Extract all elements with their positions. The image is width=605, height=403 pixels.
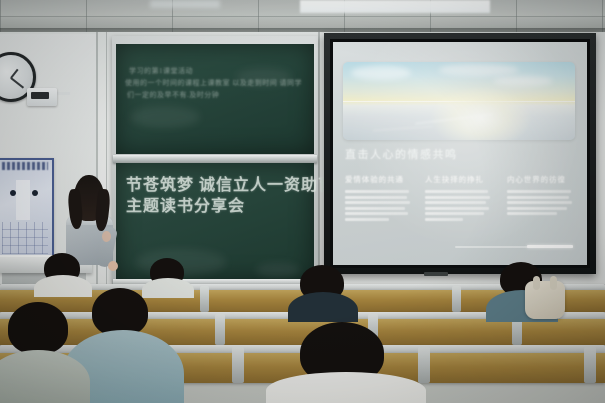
poster-sheet [16, 180, 30, 220]
classroom-photo: 学习的第1课堂活动 使用的一个时间的课程上课教室 以及走到时间 请同学 们一定的… [0, 0, 605, 403]
slide-column-2-heading: 人生抉择的挣扎 [425, 174, 491, 185]
bench-post-h [418, 347, 430, 383]
bench-post-i [584, 347, 596, 383]
student-front-right-shirt [266, 372, 426, 403]
presenter-shoulder-cutout [102, 231, 111, 242]
slide-column-1: 爱情体验的共通 [345, 174, 411, 224]
av-mount-arm [56, 92, 70, 95]
wall-poster [0, 158, 54, 260]
student-back-left-shirt [34, 275, 92, 297]
bench-post-d [215, 314, 225, 345]
student-mid-center-shirt [288, 292, 358, 322]
chalk-lower-line-2: 主题读书分享会 [126, 192, 245, 216]
bench-post-g [232, 347, 244, 383]
slide-column-3: 内心世界的彷徨 [507, 174, 573, 218]
chalk-upper-line-1: 学习的第1课堂活动 [129, 66, 193, 76]
presenter-hand [108, 261, 118, 271]
slide-column-2-body [425, 190, 491, 221]
bench-post-a [200, 286, 209, 312]
chalkboard-rail-middle [113, 155, 317, 163]
student-back-center-shirt [142, 278, 194, 298]
poster-title-band [2, 162, 48, 170]
slide-column-2: 人生抉择的挣扎 [425, 174, 491, 224]
screen-bottom-mount [424, 272, 448, 276]
clock-minute-hand [11, 77, 25, 88]
photo-sun-glow [431, 87, 531, 140]
ceiling-light-secondary [150, 0, 220, 8]
av-display-icon [31, 92, 49, 99]
slide-title: 直击人心的情感共鸣 [345, 146, 458, 162]
chalk-upper-line-2: 使用的一个时间的课程上课教室 以及走到时间 请同学 [125, 78, 302, 88]
slide-column-1-heading: 爱情体验的共通 [345, 174, 411, 185]
slide-column-1-body [345, 190, 411, 221]
wall-seam-3 [318, 32, 320, 284]
backpack-strap-left [533, 276, 540, 290]
slide-photo [343, 62, 575, 140]
chalk-upper-line-3: 们一定的及早不有.及时分钟 [127, 90, 219, 100]
slide-column-3-heading: 内心世界的彷徨 [507, 174, 573, 185]
bench-post-c [452, 286, 461, 312]
presentation-slide[interactable]: 直击人心的情感共鸣 爱情体验的共通 人生抉择的挣扎 [333, 42, 587, 265]
backpack [525, 281, 565, 319]
backpack-strap-right [550, 276, 557, 290]
slide-progress-fill [527, 245, 573, 248]
poster-dot-left [10, 190, 16, 196]
poster-dot-right [32, 190, 38, 196]
ceiling-light-icon [300, 0, 490, 13]
poster-grid [2, 222, 48, 254]
slide-column-3-body [507, 190, 573, 215]
